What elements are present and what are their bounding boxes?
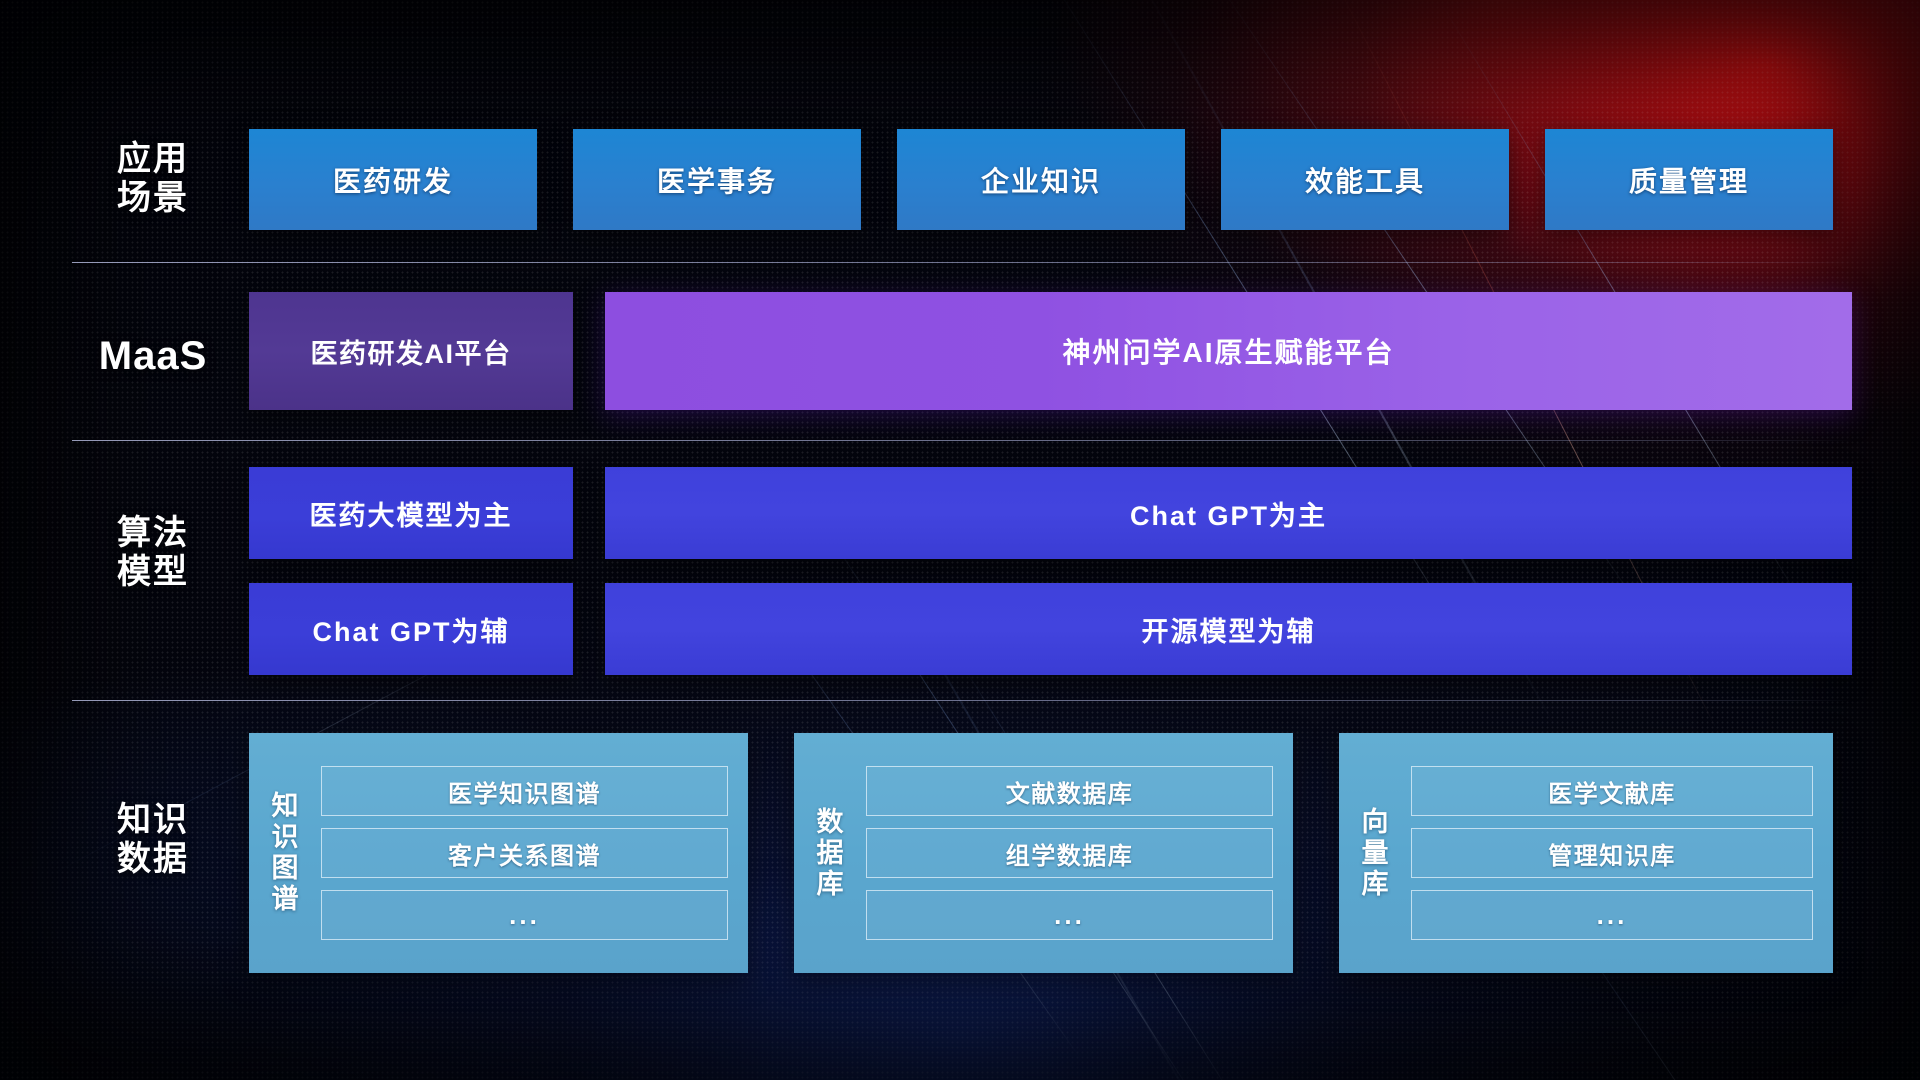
row-label-knowledge-data: 知识 数据 [48, 801, 258, 880]
knowledge-card-database[interactable]: 数据库 文献数据库 组学数据库 ... [794, 733, 1293, 973]
knowledge-item[interactable]: 组学数据库 [866, 828, 1273, 878]
row-label-maas-text: MaaS [48, 333, 258, 379]
row-label-line-2: 场景 [48, 179, 258, 218]
algo-box-opensource-aux[interactable]: 开源模型为辅 [605, 583, 1852, 675]
knowledge-item[interactable]: 医学知识图谱 [321, 766, 728, 816]
knowledge-card-vector-store[interactable]: 向量库 医学文献库 管理知识库 ... [1339, 733, 1833, 973]
knowledge-item-more[interactable]: ... [1411, 890, 1813, 940]
algo-box-opensource-aux-label: 开源模型为辅 [1142, 610, 1316, 649]
maas-box-shenzhou-platform-label: 神州问学AI原生赋能平台 [1062, 331, 1394, 371]
maas-box-shenzhou-platform[interactable]: 神州问学AI原生赋能平台 [605, 292, 1852, 410]
scene-box-2[interactable]: 企业知识 [897, 129, 1185, 230]
row-label-algorithm-model: 算法 模型 [48, 514, 258, 593]
knowledge-item-more[interactable]: ... [866, 890, 1273, 940]
row-label-knowledge-line-1: 知识 [48, 801, 258, 840]
scene-box-2-label: 企业知识 [981, 160, 1101, 200]
maas-box-pharma-ai-platform[interactable]: 医药研发AI平台 [249, 292, 573, 410]
knowledge-card-database-items: 文献数据库 组学数据库 ... [860, 733, 1293, 973]
scene-box-0[interactable]: 医药研发 [249, 129, 537, 230]
algo-box-chatgpt-main[interactable]: Chat GPT为主 [605, 467, 1852, 559]
divider-3 [72, 700, 1852, 701]
knowledge-card-vector-store-items: 医学文献库 管理知识库 ... [1405, 733, 1833, 973]
row-label-algorithm-line-2: 模型 [48, 553, 258, 592]
algo-box-pharma-main-label: 医药大模型为主 [310, 494, 513, 533]
scene-box-4[interactable]: 质量管理 [1545, 129, 1833, 230]
knowledge-card-vector-store-title: 向量库 [1339, 733, 1405, 973]
scene-box-0-label: 医药研发 [333, 160, 453, 200]
row-label-algorithm-line-1: 算法 [48, 514, 258, 553]
knowledge-card-knowledge-graph-items: 医学知识图谱 客户关系图谱 ... [315, 733, 748, 973]
algo-box-chatgpt-aux[interactable]: Chat GPT为辅 [249, 583, 573, 675]
diagram-content: 应用 场景 医药研发 医学事务 企业知识 效能工具 质量管理 MaaS 医药研发… [0, 0, 1920, 1080]
knowledge-item[interactable]: 文献数据库 [866, 766, 1273, 816]
knowledge-item[interactable]: 医学文献库 [1411, 766, 1813, 816]
algo-box-chatgpt-aux-label: Chat GPT为辅 [312, 610, 509, 649]
knowledge-item-more[interactable]: ... [321, 890, 728, 940]
knowledge-item[interactable]: 管理知识库 [1411, 828, 1813, 878]
row-label-knowledge-line-2: 数据 [48, 840, 258, 879]
knowledge-card-knowledge-graph-title: 知识图谱 [249, 733, 315, 973]
knowledge-item[interactable]: 客户关系图谱 [321, 828, 728, 878]
algo-box-chatgpt-main-label: Chat GPT为主 [1130, 494, 1327, 533]
scene-box-1-label: 医学事务 [657, 160, 777, 200]
row-label-maas: MaaS [48, 333, 258, 379]
divider-1 [72, 262, 1852, 263]
slide-canvas: 应用 场景 医药研发 医学事务 企业知识 效能工具 质量管理 MaaS 医药研发… [0, 0, 1920, 1080]
row-label-line-1: 应用 [48, 140, 258, 179]
scene-box-1[interactable]: 医学事务 [573, 129, 861, 230]
row-label-application-scenario: 应用 场景 [48, 140, 258, 219]
scene-box-4-label: 质量管理 [1629, 160, 1749, 200]
divider-2 [72, 440, 1852, 441]
scene-box-3-label: 效能工具 [1305, 160, 1425, 200]
knowledge-card-knowledge-graph[interactable]: 知识图谱 医学知识图谱 客户关系图谱 ... [249, 733, 748, 973]
maas-box-pharma-ai-platform-label: 医药研发AI平台 [311, 332, 512, 371]
algo-box-pharma-main[interactable]: 医药大模型为主 [249, 467, 573, 559]
knowledge-card-database-title: 数据库 [794, 733, 860, 973]
scene-box-3[interactable]: 效能工具 [1221, 129, 1509, 230]
